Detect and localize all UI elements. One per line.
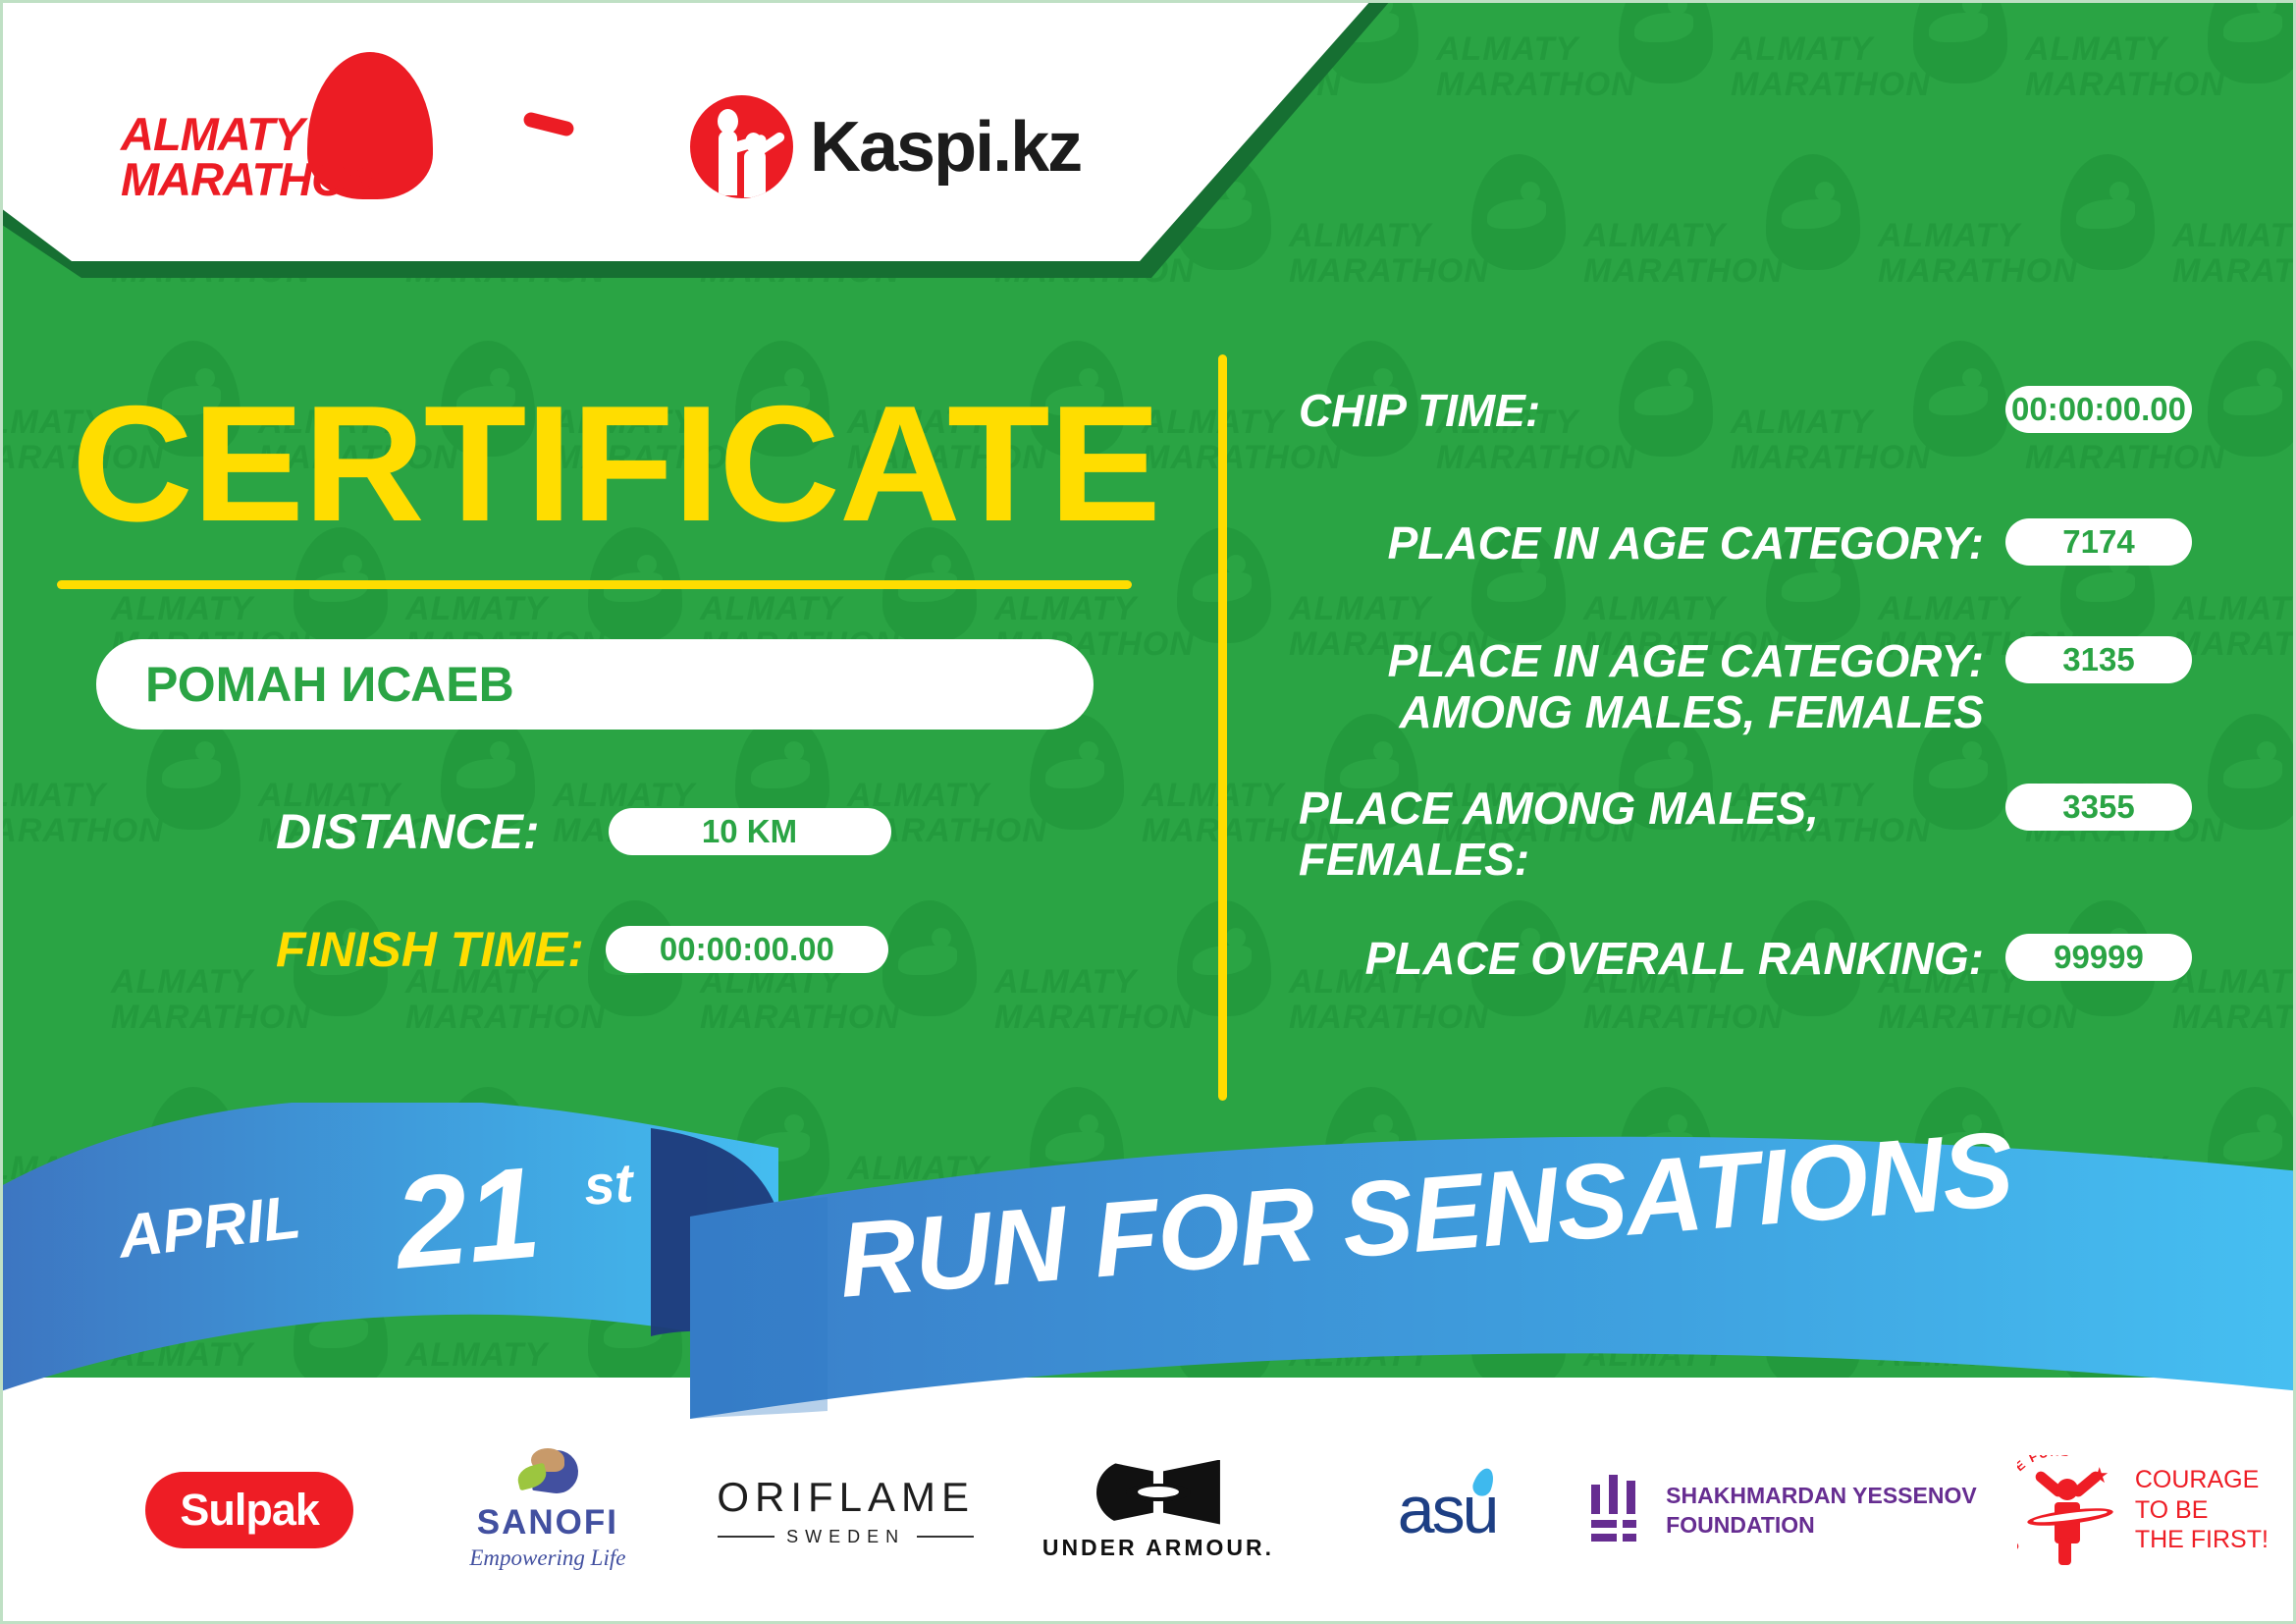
watermark-line1: ALMATY — [405, 1336, 548, 1375]
yessenov-wordmark: SHAKHMARDAN YESSENOV FOUNDATION — [1666, 1481, 1977, 1541]
almaty-logo-line2: MARATHON — [121, 152, 379, 206]
watermark-line1: ALMATY — [1289, 590, 1431, 628]
place-age-category-gender-value: 3135 — [2005, 636, 2192, 683]
watermark-tile: ALMATYMARATHON — [2025, 3, 2296, 150]
sulpak-wordmark: Sulpak — [180, 1485, 319, 1536]
watermark-line2: MARATHON — [1878, 252, 2078, 291]
watermark-line2: MARATHON — [994, 999, 1195, 1037]
watermark-tile: ALMATYMARATHON — [994, 896, 1289, 1083]
watermark-line1: ALMATY — [1878, 590, 2020, 628]
asu-logo: asu — [1398, 1472, 1497, 1548]
place-age-category-value: 7174 — [2005, 518, 2192, 566]
watermark-line2: MARATHON — [2025, 439, 2225, 477]
watermark-drop-icon — [1471, 1273, 1566, 1378]
watermark-tile: ALMATYMARATHON — [1878, 150, 2172, 337]
courage-leg-icon — [2058, 1538, 2071, 1565]
yessenov-line2: FOUNDATION — [1666, 1510, 1977, 1540]
watermark-line2: MARATHON — [2172, 1372, 2296, 1378]
watermark-line1: ALMATY — [1731, 30, 1873, 69]
watermark-line1: ALMATY — [1436, 30, 1578, 69]
yessenov-line1: SHAKHMARDAN YESSENOV — [1666, 1481, 1977, 1510]
kaspi-child-body-icon — [744, 150, 766, 197]
watermark-tile: ALMATYMARATHON — [1731, 3, 2025, 150]
yessenov-bar — [1591, 1534, 1617, 1542]
watermark-line1: ALMATY — [1289, 1336, 1431, 1375]
watermark-tile: ALMATYMARATHON — [1436, 3, 1731, 150]
oriflame-country: SWEDEN — [786, 1527, 905, 1547]
watermark-line2: MARATHON — [1878, 999, 2078, 1037]
kaspi-adult-body-icon — [719, 131, 737, 195]
watermark-line1: ALMATY — [1142, 404, 1284, 442]
watermark-line2: MARATHON — [700, 1372, 900, 1378]
chip-time-value: 00:00:00.00 — [2005, 386, 2192, 433]
watermark-tile: ALMATYMARATHON — [1583, 1270, 1878, 1378]
yessenov-bar — [1591, 1520, 1617, 1528]
sponsor-sanofi: SANOFI Empowering Life — [405, 1441, 689, 1579]
watermark-line1: ALMATY — [994, 1336, 1137, 1375]
kaspi-wordmark: Kaspi.kz — [810, 107, 1081, 188]
finish-time-row: FINISH TIME: 00:00:00.00 — [276, 921, 888, 978]
oriflame-wordmark: ORIFLAME — [717, 1474, 975, 1521]
watermark-tile: ALMATYMARATHON — [2172, 1270, 2296, 1378]
title-underline — [57, 580, 1132, 589]
watermark-line1: ALMATY — [2172, 1336, 2296, 1375]
watermark-line2: MARATHON — [1436, 66, 1636, 104]
watermark-tile: ALMATYMARATHON — [847, 710, 1142, 896]
watermark-line1: ALMATY — [405, 590, 548, 628]
ribbon-day-suffix: st — [582, 1151, 635, 1218]
watermark-line1: ALMATY — [2172, 590, 2296, 628]
watermark-line2: MARATHON — [994, 1372, 1195, 1378]
chip-time-row: CHIP TIME: 00:00:00.00 — [1299, 386, 2192, 437]
place-among-gender-label: PLACE AMONG MALES, FEMALES: — [1299, 784, 1984, 885]
watermark-line2: MARATHON — [1731, 439, 1931, 477]
place-overall-label: PLACE OVERALL RANKING: — [1299, 934, 1984, 985]
place-age-category-row: PLACE IN AGE CATEGORY: 7174 — [1299, 518, 2192, 569]
watermark-line1: ALMATY — [2025, 30, 2167, 69]
yessenov-bars-icon — [1589, 1475, 1648, 1545]
watermark-line2: MARATHON — [111, 999, 311, 1037]
watermark-tile: ALMATYMARATHON — [1583, 896, 1878, 1083]
watermark-line1: ALMATY — [1583, 590, 1726, 628]
watermark-line2: MARATHON — [1583, 252, 1784, 291]
place-overall-value: 99999 — [2005, 934, 2192, 981]
watermark-drop-icon — [294, 1273, 388, 1378]
sanofi-tagline: Empowering Life — [469, 1545, 625, 1571]
place-age-category-gender-row: PLACE IN AGE CATEGORY: AMONG MALES, FEMA… — [1299, 636, 2192, 737]
sanofi-icon — [513, 1450, 582, 1501]
finish-time-value: 00:00:00.00 — [606, 926, 888, 973]
watermark-line2: MARATHON — [553, 1185, 753, 1223]
vertical-divider — [1218, 354, 1227, 1101]
courage-star-icon: ★ — [2090, 1465, 2109, 1487]
watermark-line2: MARATHON — [405, 1372, 606, 1378]
yessenov-bar — [1623, 1534, 1636, 1542]
distance-value: 10 KM — [609, 808, 891, 855]
under-armour-icon — [1096, 1460, 1220, 1525]
sponsor-oriflame: ORIFLAME SWEDEN — [690, 1441, 1002, 1579]
watermark-line2: MARATHON — [1731, 66, 1931, 104]
courage-line1: COURAGE — [2135, 1465, 2269, 1495]
watermark-line1: ALMATY — [111, 963, 253, 1001]
watermark-tile: ALMATYMARATHON — [2172, 896, 2296, 1083]
watermark-line2: MARATHON — [1583, 999, 1784, 1037]
sponsor-asu: asu — [1314, 1441, 1579, 1579]
watermark-drop-icon — [588, 1273, 682, 1378]
watermark-line1: ALMATY — [1142, 777, 1284, 815]
distance-row: DISTANCE: 10 KM — [276, 803, 891, 860]
courage-line2: TO BE — [2135, 1495, 2269, 1526]
yessenov-bar — [1623, 1520, 1636, 1528]
sponsor-under-armour: UNDER ARMOUR. — [1002, 1441, 1314, 1579]
kaspi-figures-icon — [690, 95, 793, 198]
watermark-line1: ALMATY — [994, 963, 1137, 1001]
watermark-line2: MARATHON — [1436, 439, 1636, 477]
watermark-line2: MARATHON — [3, 812, 164, 850]
sponsor-sulpak: Sulpak — [93, 1441, 405, 1579]
oriflame-rule-left — [718, 1536, 774, 1538]
watermark-line1: ALMATY — [111, 590, 253, 628]
place-overall-row: PLACE OVERALL RANKING: 99999 — [1299, 934, 2192, 985]
sanofi-wordmark: SANOFI — [477, 1503, 618, 1543]
courage-line3: THE FIRST! — [2135, 1525, 2269, 1555]
watermark-line1: ALMATY — [111, 1336, 253, 1375]
watermark-line1: ALMATY — [2172, 217, 2296, 255]
watermark-line2: MARATHON — [1142, 439, 1342, 477]
watermark-line2: MARATHON — [1878, 1372, 2078, 1378]
yessenov-bar — [1609, 1475, 1618, 1514]
ribbon-day: 21 — [389, 1137, 545, 1297]
watermark-line1: ALMATY — [258, 1150, 400, 1188]
finish-time-label: FINISH TIME: — [276, 921, 584, 978]
chip-time-label: CHIP TIME: — [1299, 386, 1984, 437]
watermark-line2: MARATHON — [111, 1372, 311, 1378]
watermark-line1: ALMATY — [1583, 217, 1726, 255]
courage-figure-icon: CORPORATE FUND ★ — [2017, 1455, 2127, 1565]
watermark-line1: ALMATY — [1878, 217, 2020, 255]
watermark-line1: ALMATY — [994, 590, 1137, 628]
watermark-tile: ALMATYMARATHON — [1289, 896, 1583, 1083]
watermark-line1: ALMATY — [1583, 1336, 1726, 1375]
oriflame-sub-wrap: SWEDEN — [718, 1527, 974, 1547]
watermark-line1: ALMATY — [3, 777, 106, 815]
page-title: CERTIFICATE — [72, 381, 1160, 546]
watermark-drop-icon — [1766, 1273, 1860, 1378]
watermark-line1: ALMATY — [3, 1150, 106, 1188]
place-among-gender-value: 3355 — [2005, 784, 2192, 831]
distance-label: DISTANCE: — [276, 803, 540, 860]
watermark-line1: ALMATY — [847, 1150, 989, 1188]
almaty-marathon-logo: ALMATY MARATHON — [121, 50, 454, 178]
kaspi-logo: Kaspi.kz — [690, 93, 1102, 211]
place-age-category-gender-label: PLACE IN AGE CATEGORY: AMONG MALES, FEMA… — [1299, 636, 1984, 737]
watermark-line1: ALMATY — [700, 1336, 842, 1375]
header: ALMATY MARATHON Kaspi.kz — [3, 3, 1436, 288]
under-armour-wordmark: UNDER ARMOUR. — [1042, 1535, 1274, 1561]
sponsor-strip: Sulpak SANOFI Empowering Life ORIFLAME S… — [3, 1427, 2296, 1594]
place-age-category-label: PLACE IN AGE CATEGORY: — [1299, 518, 1984, 569]
watermark-line2: MARATHON — [2025, 1185, 2225, 1223]
watermark-line2: MARATHON — [1583, 1372, 1784, 1378]
watermark-line2: MARATHON — [2025, 66, 2225, 104]
watermark-line2: MARATHON — [405, 999, 606, 1037]
watermark-tile: ALMATYMARATHON — [2172, 150, 2296, 337]
watermark-line1: ALMATY — [1878, 1336, 2020, 1375]
watermark-tile: ALMATYMARATHON — [1878, 896, 2172, 1083]
place-among-gender-row: PLACE AMONG MALES, FEMALES: 3355 — [1299, 784, 2192, 885]
sponsor-yessenov-foundation: SHAKHMARDAN YESSENOV FOUNDATION — [1579, 1441, 1987, 1579]
watermark-tile: ALMATYMARATHON — [1289, 1270, 1583, 1378]
watermark-line2: MARATHON — [1289, 999, 1489, 1037]
participant-name-field: РОМАН ИСАЕВ — [96, 639, 1094, 730]
watermark-line2: MARATHON — [2172, 252, 2296, 291]
certificate-card: ALMATYMARATHONALMATYMARATHONALMATYMARATH… — [0, 0, 2296, 1624]
participant-name-value: РОМАН ИСАЕВ — [145, 656, 514, 713]
watermark-drop-icon — [2060, 1273, 2155, 1378]
yessenov-bar — [1627, 1481, 1635, 1514]
watermark-tile: ALMATYMARATHON — [111, 1270, 405, 1378]
watermark-line2: MARATHON — [700, 999, 900, 1037]
yessenov-bar — [1591, 1485, 1600, 1514]
sponsor-courage-fund: CORPORATE FUND ★ COURAGE TO BE THE FIRST… — [1987, 1441, 2296, 1579]
ua-center-hole-icon — [1138, 1487, 1179, 1497]
watermark-line2: MARATHON — [1289, 1372, 1489, 1378]
watermark-tile: ALMATYMARATHON — [1583, 150, 1878, 337]
sulpak-logo: Sulpak — [145, 1472, 353, 1548]
watermark-line1: ALMATY — [700, 590, 842, 628]
watermark-line2: MARATHON — [2172, 999, 2296, 1037]
watermark-line1: ALMATY — [2025, 1150, 2167, 1188]
courage-head-icon — [2056, 1479, 2078, 1500]
courage-wordmark: COURAGE TO BE THE FIRST! — [2135, 1465, 2269, 1555]
watermark-tile: ALMATYMARATHON — [2025, 1083, 2296, 1270]
watermark-tile: ALMATYMARATHON — [1878, 1270, 2172, 1378]
watermark-tile: ALMATYMARATHON — [3, 710, 258, 896]
oriflame-rule-right — [917, 1536, 974, 1538]
